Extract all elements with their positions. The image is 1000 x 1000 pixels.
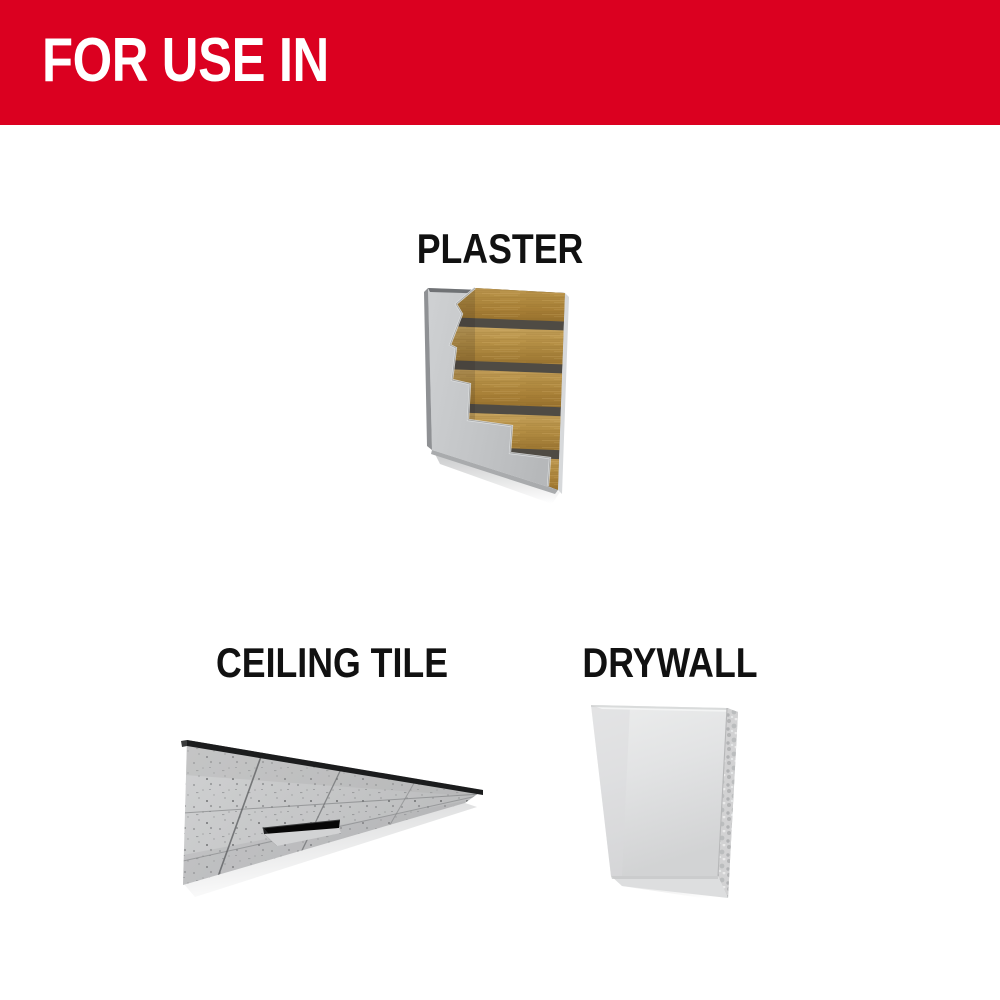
section-label-drywall: DRYWALL [582, 642, 757, 684]
plaster-illustration [400, 268, 620, 518]
drywall-illustration [570, 690, 770, 920]
section-label-plaster: PLASTER [417, 228, 584, 270]
ceiling-tile-icon [165, 715, 495, 910]
page-title: FOR USE IN [42, 30, 329, 92]
header-banner: FOR USE IN [0, 0, 1000, 125]
plaster-panel-icon [400, 268, 620, 518]
for-use-in-page: FOR USE IN PLASTER [0, 0, 1000, 1000]
ceiling-tile-illustration [165, 715, 495, 910]
section-label-ceiling-tile: CEILING TILE [216, 642, 448, 684]
drywall-panel-icon [570, 690, 770, 920]
